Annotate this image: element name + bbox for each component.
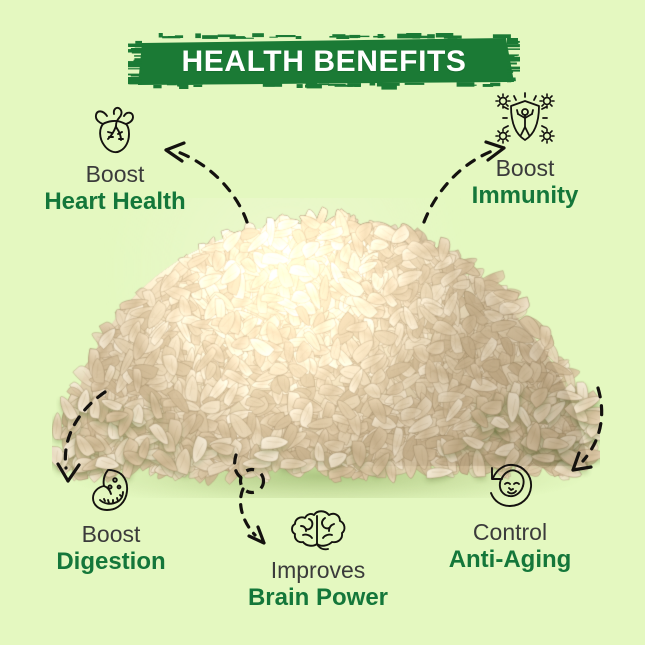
benefit-antiaging: Control Anti-Aging (400, 456, 620, 573)
benefit-brain-line2: Brain Power (208, 584, 428, 612)
benefit-digestion-line2: Digestion (1, 548, 221, 576)
face-refresh-icon (400, 456, 620, 516)
stomach-icon (1, 458, 221, 518)
benefit-heart: Boost Heart Health (5, 98, 225, 215)
page-title: HEALTH BENEFITS (128, 33, 520, 91)
seed-pile-image (52, 198, 600, 498)
benefit-heart-line2: Heart Health (5, 188, 225, 216)
brain-icon (208, 494, 428, 554)
benefit-immunity: Boost Immunity (415, 92, 635, 209)
benefit-digestion: Boost Digestion (1, 458, 221, 575)
benefit-antiaging-line1: Control (400, 520, 620, 546)
benefit-brain: Improves Brain Power (208, 494, 428, 611)
benefit-heart-line1: Boost (5, 162, 225, 188)
benefit-immunity-line2: Immunity (415, 182, 635, 210)
immunity-shield-icon (415, 92, 635, 152)
infographic-canvas: HEALTH BENEFITS (0, 0, 645, 645)
benefit-brain-line1: Improves (208, 558, 428, 584)
title-banner: HEALTH BENEFITS (128, 33, 520, 91)
anatomical-heart-icon (5, 98, 225, 158)
benefit-digestion-line1: Boost (1, 522, 221, 548)
benefit-antiaging-line2: Anti-Aging (400, 546, 620, 574)
benefit-immunity-line1: Boost (415, 156, 635, 182)
